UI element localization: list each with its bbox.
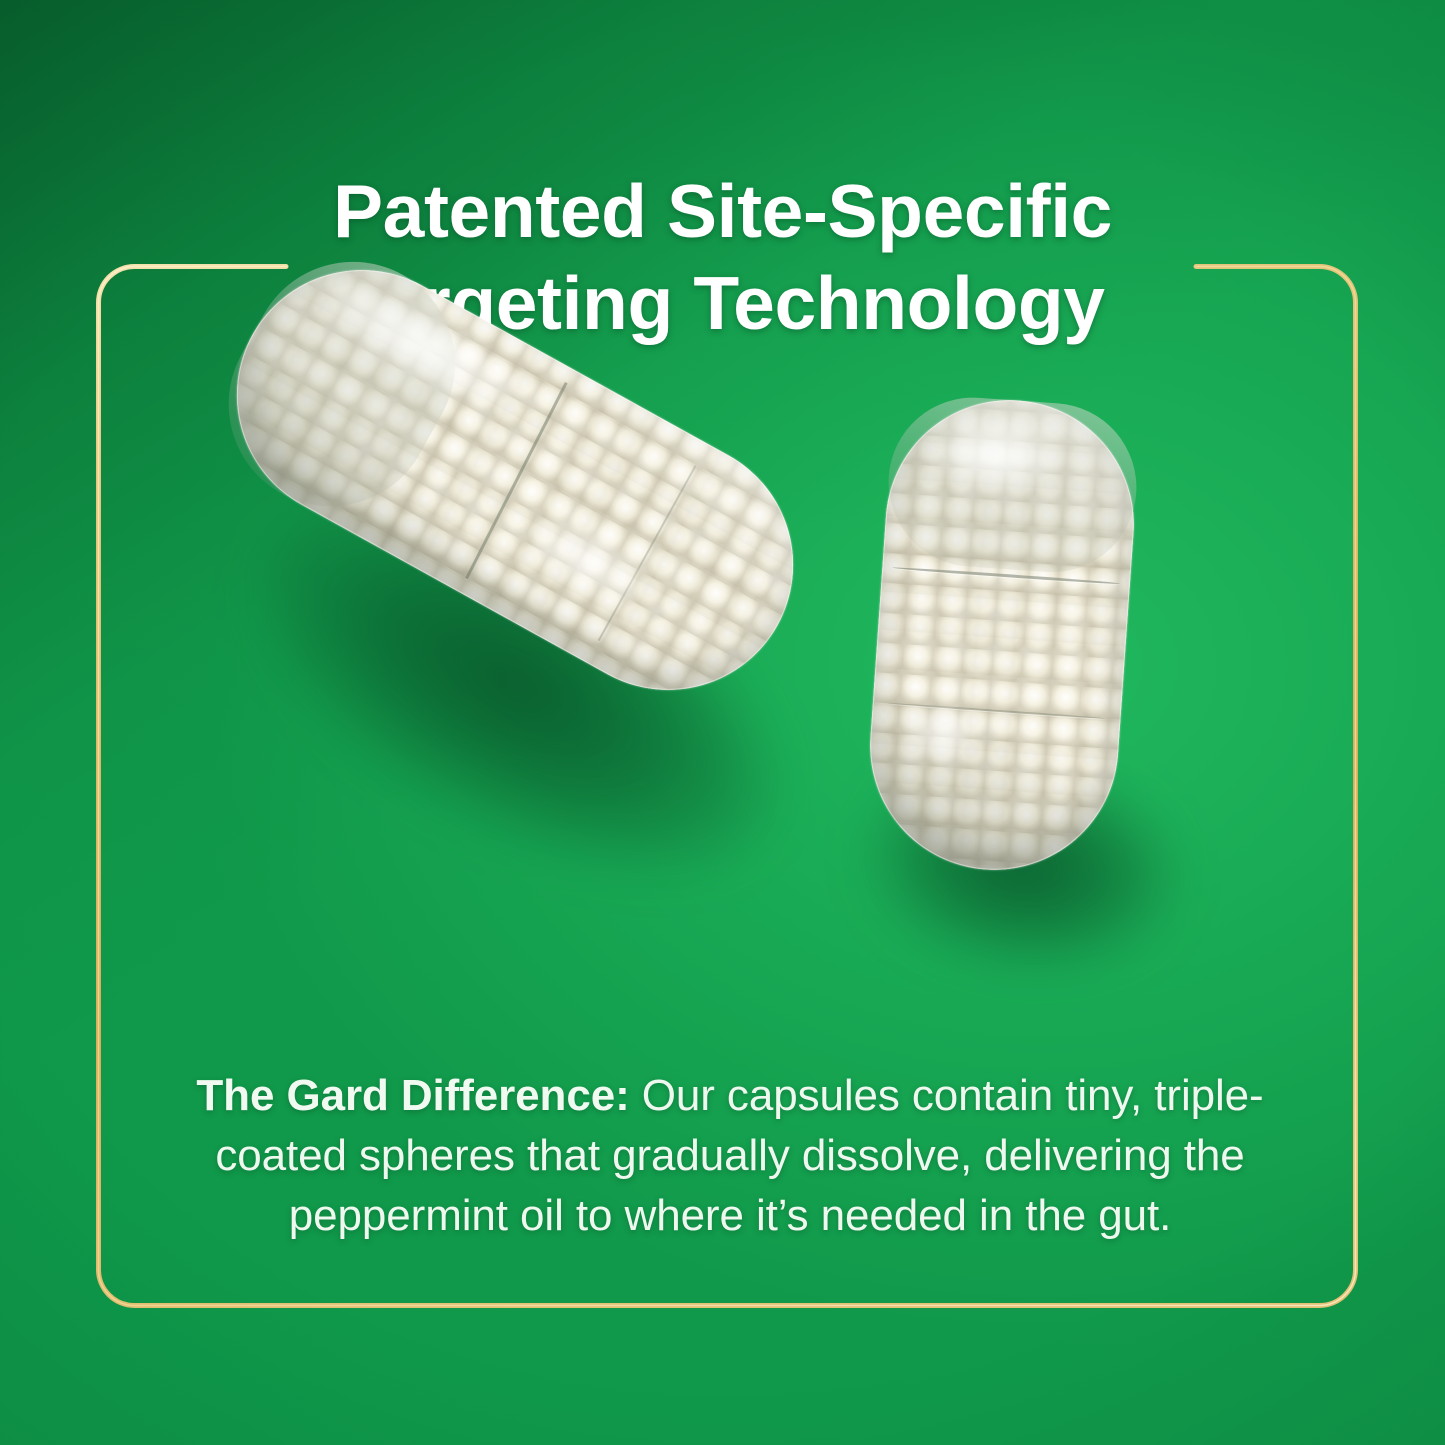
product-image [0,300,1445,1000]
body-copy-lead-in: The Gard Difference: [196,1071,629,1120]
capsule-right-rim [862,392,1142,878]
capsule-right [862,392,1142,878]
body-copy: The Gard Difference: Our capsules contai… [150,1066,1310,1245]
product-feature-card: Patented Site-Specific Targeting Technol… [0,0,1445,1445]
